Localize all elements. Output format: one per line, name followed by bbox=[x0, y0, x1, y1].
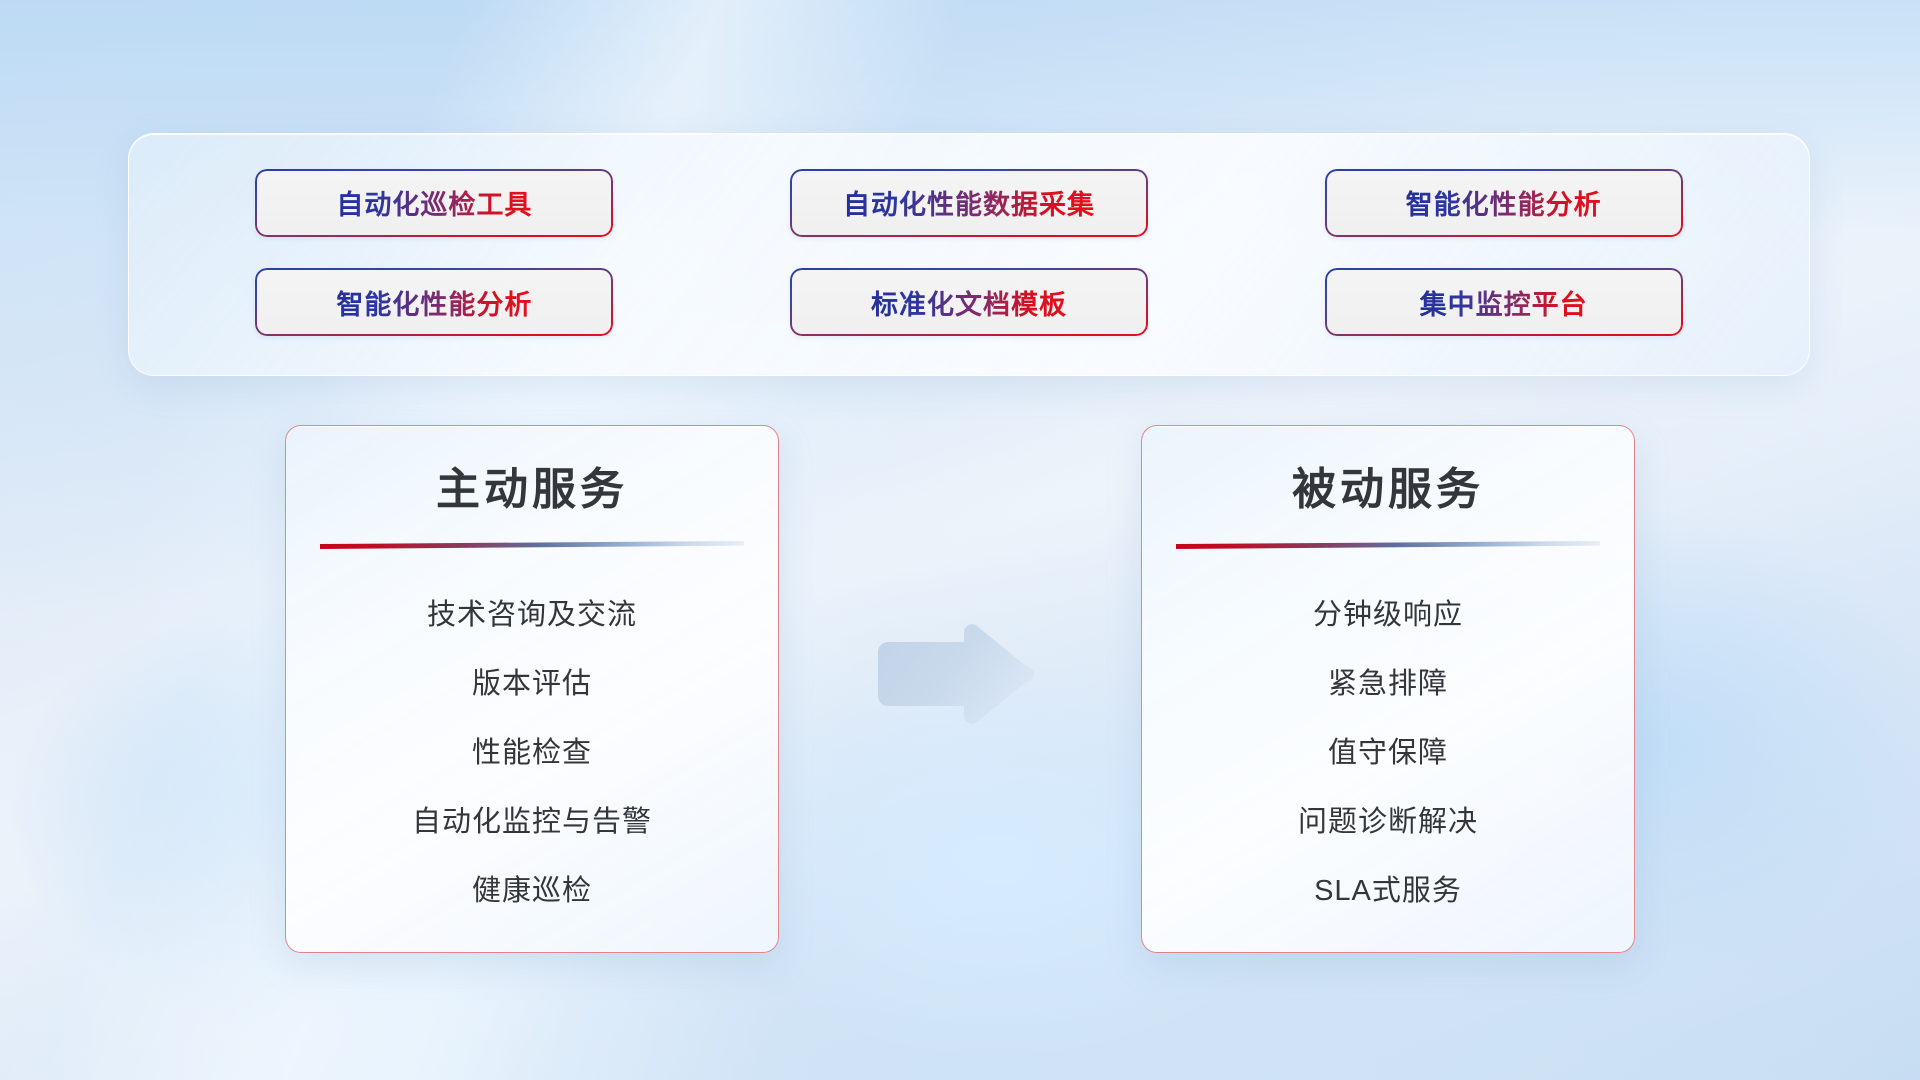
card-divider-bar bbox=[1176, 541, 1600, 549]
card-item-list: 分钟级响应 紧急排障 值守保障 问题诊断解决 SLA式服务 bbox=[1142, 591, 1634, 909]
capability-pill-6[interactable]: 集中监控平台 bbox=[1325, 268, 1683, 336]
card-title: 主动服务 bbox=[286, 453, 778, 517]
list-item: 自动化监控与告警 bbox=[412, 798, 652, 840]
capability-pill-1[interactable]: 自动化巡检工具 bbox=[255, 169, 613, 237]
card-divider bbox=[320, 539, 744, 551]
list-item: SLA式服务 bbox=[1314, 867, 1462, 909]
capability-pill-label: 智能化性能分析 bbox=[1406, 183, 1602, 222]
list-item: 健康巡检 bbox=[472, 867, 592, 909]
list-item: 版本评估 bbox=[472, 660, 592, 702]
service-card-active: 主动服务 技术咨询及交流 版本评估 性能检查 自动化监控与告警 健康巡检 bbox=[285, 425, 779, 953]
list-item: 紧急排障 bbox=[1328, 660, 1448, 702]
capabilities-panel: 自动化巡检工具 自动化性能数据采集 智能化性能分析 智能化性能分析 标准化文档模… bbox=[128, 133, 1810, 376]
card-item-list: 技术咨询及交流 版本评估 性能检查 自动化监控与告警 健康巡检 bbox=[286, 591, 778, 909]
capability-pill-4[interactable]: 智能化性能分析 bbox=[255, 268, 613, 336]
capability-pill-label: 自动化巡检工具 bbox=[336, 183, 532, 222]
arrow-right-icon bbox=[872, 618, 1034, 730]
capabilities-grid: 自动化巡检工具 自动化性能数据采集 智能化性能分析 智能化性能分析 标准化文档模… bbox=[129, 134, 1809, 375]
capability-pill-label: 自动化性能数据采集 bbox=[843, 183, 1095, 222]
card-divider-bar bbox=[320, 541, 744, 549]
card-divider bbox=[1176, 539, 1600, 551]
capability-pill-5[interactable]: 标准化文档模板 bbox=[790, 268, 1148, 336]
list-item: 技术咨询及交流 bbox=[427, 591, 637, 633]
capability-pill-label: 智能化性能分析 bbox=[336, 283, 532, 322]
card-title: 被动服务 bbox=[1142, 453, 1634, 517]
capability-pill-3[interactable]: 智能化性能分析 bbox=[1325, 169, 1683, 237]
capability-pill-2[interactable]: 自动化性能数据采集 bbox=[790, 169, 1148, 237]
list-item: 问题诊断解决 bbox=[1298, 798, 1478, 840]
capability-pill-label: 标准化文档模板 bbox=[871, 283, 1067, 322]
list-item: 值守保障 bbox=[1328, 729, 1448, 771]
list-item: 性能检查 bbox=[472, 729, 592, 771]
service-card-passive: 被动服务 分钟级响应 紧急排障 值守保障 问题诊断解决 SLA式服务 bbox=[1141, 425, 1635, 953]
capability-pill-label: 集中监控平台 bbox=[1420, 283, 1588, 322]
list-item: 分钟级响应 bbox=[1313, 591, 1463, 633]
